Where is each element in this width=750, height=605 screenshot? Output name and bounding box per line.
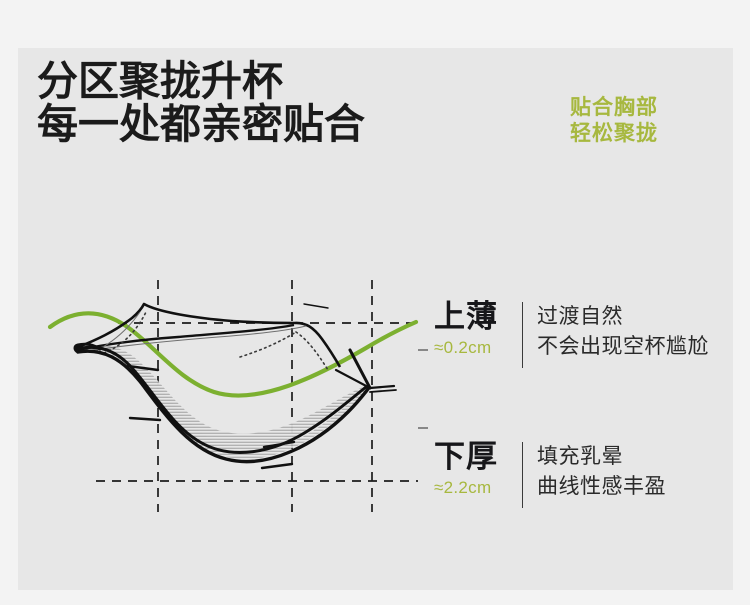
right-edge-ticks — [418, 350, 428, 428]
right-converge-lines — [336, 350, 396, 392]
page-root: 分区聚拢升杯 每一处都亲密贴合 贴合胸部 轻松聚拢 — [0, 0, 750, 605]
spec-lower-desc-line-2: 曲线性感丰盈 — [537, 472, 666, 502]
spec-upper-value: ≈0.2cm — [434, 337, 522, 360]
spec-lower-divider — [522, 442, 523, 508]
spec-lower-description: 填充乳晕 曲线性感丰盈 — [537, 440, 666, 502]
spec-lower-title: 下厚 — [434, 440, 522, 474]
spec-upper-measure: 上薄 ≈0.2cm — [434, 300, 522, 360]
spec-lower-value: ≈2.2cm — [434, 477, 522, 500]
spec-upper-title: 上薄 — [434, 300, 522, 334]
tagline-line-2: 轻松聚拢 — [570, 121, 658, 147]
spec-lower-measure: 下厚 ≈2.2cm — [434, 440, 522, 500]
spec-upper-divider — [522, 302, 523, 368]
spec-upper-desc-line-1: 过渡自然 — [537, 302, 709, 332]
spec-upper-desc-line-2: 不会出现空杯尴尬 — [537, 332, 709, 362]
tagline: 贴合胸部 轻松聚拢 — [570, 95, 658, 148]
headline-line-1: 分区聚拢升杯 — [37, 60, 365, 103]
tagline-line-1: 贴合胸部 — [570, 95, 658, 121]
cup-cross-section-diagram — [18, 240, 438, 530]
spec-block-lower: 下厚 ≈2.2cm 填充乳晕 曲线性感丰盈 — [434, 440, 666, 508]
headline-line-2: 每一处都亲密贴合 — [37, 103, 365, 146]
spec-lower-desc-line-1: 填充乳晕 — [537, 442, 666, 472]
spec-upper-description: 过渡自然 不会出现空杯尴尬 — [537, 300, 709, 362]
page-title: 分区聚拢升杯 每一处都亲密贴合 — [37, 60, 365, 147]
spec-block-upper: 上薄 ≈0.2cm 过渡自然 不会出现空杯尴尬 — [434, 300, 709, 368]
